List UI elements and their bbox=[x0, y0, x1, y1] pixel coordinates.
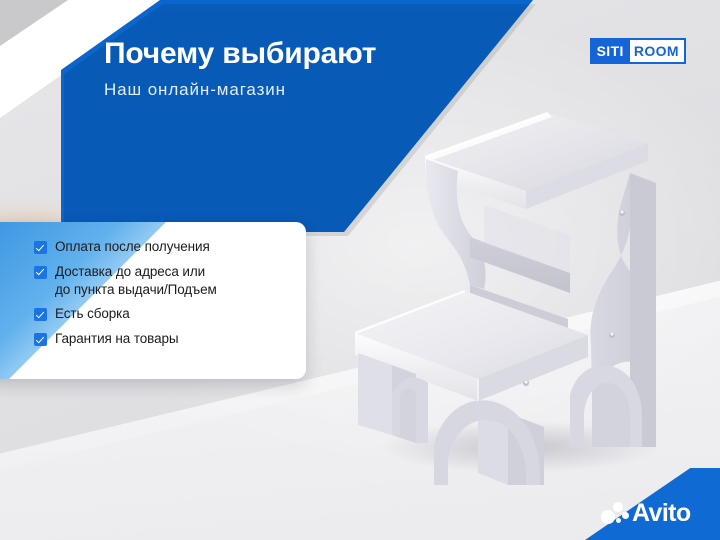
list-item[interactable]: Доставка до адреса или до пункта выдачи/… bbox=[34, 263, 306, 299]
avito-dots-logo-icon bbox=[601, 502, 631, 526]
brand-logo-part-two: ROOM bbox=[628, 40, 684, 62]
checkbox-checked-icon[interactable] bbox=[34, 333, 47, 346]
avito-logo: Avito bbox=[601, 501, 691, 526]
list-item[interactable]: Есть сборка bbox=[34, 305, 306, 323]
brand-logo-part-one: SITI bbox=[592, 40, 628, 62]
feature-list: Оплата после получения Доставка до адрес… bbox=[0, 222, 306, 348]
list-item-label: Доставка до адреса или до пункта выдачи/… bbox=[55, 263, 217, 299]
avito-wordmark: Avito bbox=[632, 501, 691, 526]
list-item-label: Гарантия на товары bbox=[55, 330, 179, 348]
list-item-label: Оплата после получения bbox=[55, 238, 210, 256]
checkbox-checked-icon[interactable] bbox=[34, 241, 47, 254]
page-subtitle: Наш онлайн-магазин bbox=[104, 80, 376, 100]
headline-block: Почему выбирают Наш онлайн-магазин bbox=[104, 38, 376, 100]
brand-logo[interactable]: SITI ROOM bbox=[590, 38, 686, 64]
list-item-label: Есть сборка bbox=[55, 305, 130, 323]
promo-banner: Почему выбирают Наш онлайн-магазин SITI … bbox=[0, 0, 720, 540]
feature-checklist-card: Оплата после получения Доставка до адрес… bbox=[0, 222, 306, 379]
list-item[interactable]: Гарантия на товары bbox=[34, 330, 306, 348]
avito-watermark: Avito bbox=[585, 468, 720, 540]
list-item[interactable]: Оплата после получения bbox=[34, 238, 306, 256]
checkbox-checked-icon[interactable] bbox=[34, 308, 47, 321]
checkbox-checked-icon[interactable] bbox=[34, 266, 47, 279]
page-title: Почему выбирают bbox=[104, 38, 376, 70]
